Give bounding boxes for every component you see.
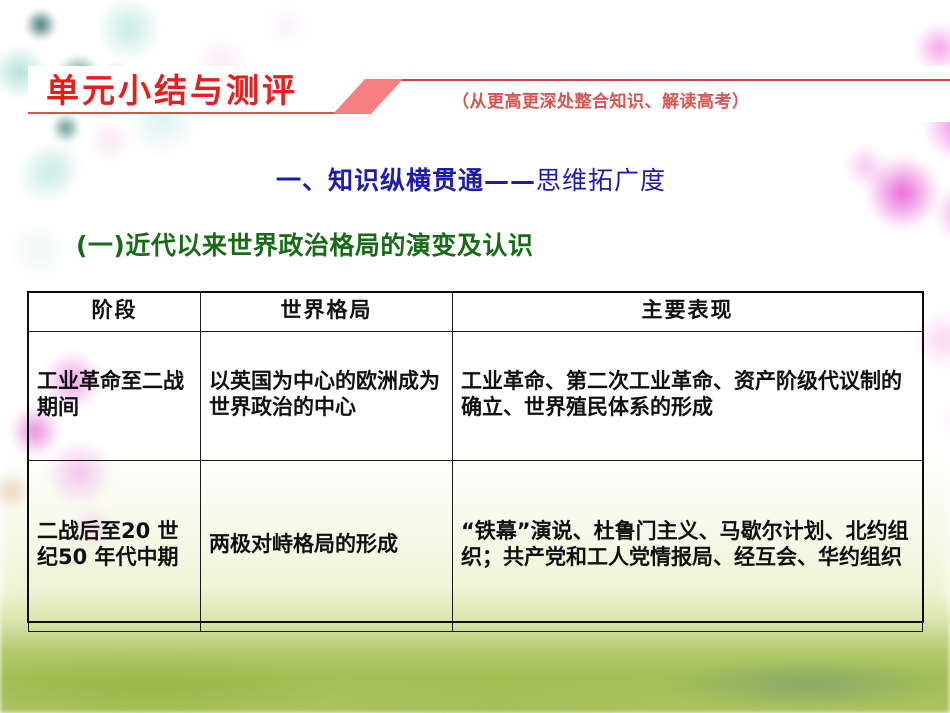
political-pattern-table: 阶段 世界格局 主要表现 工业革命至二战期间 以英国为中心的欧洲成为世界政治的中…: [28, 292, 923, 632]
table-header-row: 阶段 世界格局 主要表现: [29, 293, 923, 332]
title-rule-right: [392, 79, 950, 81]
cell-manifestation-2: “铁幕”演说、杜鲁门主义、马歇尔计划、北约组织；共产党和工人党情报局、经互会、华…: [453, 460, 923, 631]
slide-canvas: 单元小结与测评 （从更高更深处整合知识、解读高考） 一、知识纵横贯通——思维拓广…: [0, 0, 950, 713]
table-header-stage: 阶段: [29, 293, 201, 332]
cell-stage-1: 工业革命至二战期间: [29, 331, 201, 460]
slide-title: 单元小结与测评: [46, 64, 298, 112]
section-heading-bold-part: 一、知识纵横贯通——: [276, 166, 536, 195]
cell-world-order-2: 两极对峙格局的形成: [201, 460, 453, 631]
magenta-floral-blob-right: [760, 8, 950, 338]
table-header-world-order: 世界格局: [201, 293, 453, 332]
table-header-manifestation: 主要表现: [453, 293, 923, 332]
grass-texture: [0, 649, 950, 713]
cell-manifestation-1: 工业革命、第二次工业革命、资产阶级代议制的确立、世界殖民体系的形成: [453, 331, 923, 460]
section-heading: 一、知识纵横贯通——思维拓广度: [276, 161, 666, 197]
cell-stage-2: 二战后至20 世纪50 年代中期: [29, 460, 201, 631]
cell-world-order-1: 以英国为中心的欧洲成为世界政治的中心: [201, 331, 453, 460]
title-underline-left: [28, 112, 348, 114]
table-row: 工业革命至二战期间 以英国为中心的欧洲成为世界政治的中心 工业革命、第二次工业革…: [29, 331, 923, 460]
subsection-heading: (一)近代以来世界政治格局的演变及认识: [76, 226, 533, 262]
table-row: 二战后至20 世纪50 年代中期 两极对峙格局的形成 “铁幕”演说、杜鲁门主义、…: [29, 460, 923, 631]
title-banner: 单元小结与测评 （从更高更深处整合知识、解读高考）: [0, 66, 950, 121]
section-heading-light-part: 思维拓广度: [536, 166, 666, 195]
slide-subtitle: （从更高更深处整合知识、解读高考）: [452, 87, 750, 112]
